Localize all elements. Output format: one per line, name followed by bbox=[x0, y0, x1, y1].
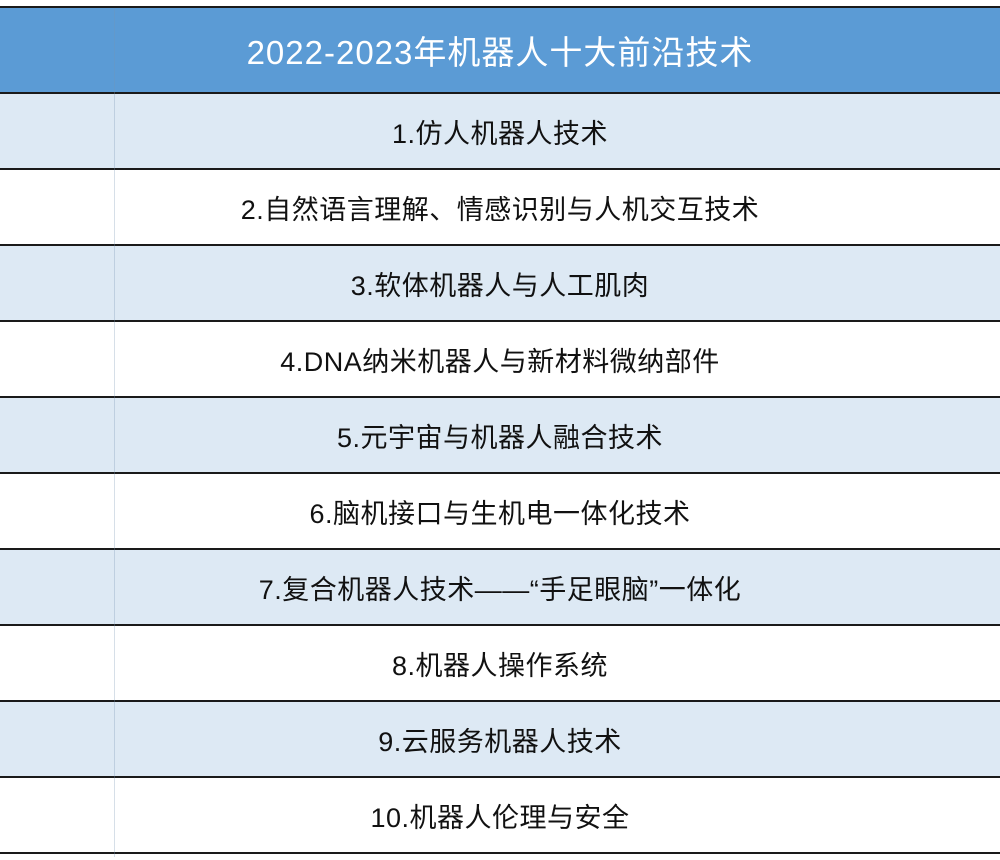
tech-item-cell-3[interactable]: 3.软体机器人与人工肌肉 bbox=[0, 245, 1000, 321]
tech-list-table: 2022-2023年机器人十大前沿技术 1.仿人机器人技术 2.自然语言理解、情… bbox=[0, 6, 1000, 854]
table-row[interactable]: 9.云服务机器人技术 bbox=[0, 701, 1000, 777]
tech-list-table-body: 2022-2023年机器人十大前沿技术 1.仿人机器人技术 2.自然语言理解、情… bbox=[0, 7, 1000, 853]
tech-item-label-3: 3.软体机器人与人工肌肉 bbox=[351, 264, 650, 303]
table-row[interactable]: 1.仿人机器人技术 bbox=[0, 93, 1000, 169]
tech-item-label-10: 10.机器人伦理与安全 bbox=[370, 796, 629, 835]
tech-item-label-9: 9.云服务机器人技术 bbox=[378, 720, 622, 759]
table-row[interactable]: 8.机器人操作系统 bbox=[0, 625, 1000, 701]
tech-item-label-7: 7.复合机器人技术——“手足眼脑”一体化 bbox=[259, 568, 742, 607]
tech-item-cell-1[interactable]: 1.仿人机器人技术 bbox=[0, 93, 1000, 169]
tech-item-cell-5[interactable]: 5.元宇宙与机器人融合技术 bbox=[0, 397, 1000, 473]
table-row[interactable]: 5.元宇宙与机器人融合技术 bbox=[0, 397, 1000, 473]
tech-item-label-1: 1.仿人机器人技术 bbox=[392, 112, 608, 151]
tech-list-table-container: 2022-2023年机器人十大前沿技术 1.仿人机器人技术 2.自然语言理解、情… bbox=[0, 0, 1000, 860]
page-title: 2022-2023年机器人十大前沿技术 bbox=[247, 26, 754, 74]
table-row[interactable]: 2.自然语言理解、情感识别与人机交互技术 bbox=[0, 169, 1000, 245]
tech-item-label-4: 4.DNA纳米机器人与新材料微纳部件 bbox=[280, 340, 720, 379]
table-row[interactable]: 4.DNA纳米机器人与新材料微纳部件 bbox=[0, 321, 1000, 397]
tech-item-cell-2[interactable]: 2.自然语言理解、情感识别与人机交互技术 bbox=[0, 169, 1000, 245]
table-header-row: 2022-2023年机器人十大前沿技术 bbox=[0, 7, 1000, 93]
tech-item-label-2: 2.自然语言理解、情感识别与人机交互技术 bbox=[241, 188, 760, 227]
tech-item-cell-6[interactable]: 6.脑机接口与生机电一体化技术 bbox=[0, 473, 1000, 549]
table-row[interactable]: 6.脑机接口与生机电一体化技术 bbox=[0, 473, 1000, 549]
table-row[interactable]: 7.复合机器人技术——“手足眼脑”一体化 bbox=[0, 549, 1000, 625]
tech-item-cell-10[interactable]: 10.机器人伦理与安全 bbox=[0, 777, 1000, 853]
tech-item-cell-9[interactable]: 9.云服务机器人技术 bbox=[0, 701, 1000, 777]
tech-item-cell-8[interactable]: 8.机器人操作系统 bbox=[0, 625, 1000, 701]
table-row[interactable]: 10.机器人伦理与安全 bbox=[0, 777, 1000, 853]
tech-item-cell-4[interactable]: 4.DNA纳米机器人与新材料微纳部件 bbox=[0, 321, 1000, 397]
tech-item-cell-7[interactable]: 7.复合机器人技术——“手足眼脑”一体化 bbox=[0, 549, 1000, 625]
table-row[interactable]: 3.软体机器人与人工肌肉 bbox=[0, 245, 1000, 321]
table-title-cell: 2022-2023年机器人十大前沿技术 bbox=[0, 7, 1000, 93]
tech-item-label-5: 5.元宇宙与机器人融合技术 bbox=[337, 416, 663, 455]
tech-item-label-6: 6.脑机接口与生机电一体化技术 bbox=[309, 492, 690, 531]
tech-item-label-8: 8.机器人操作系统 bbox=[392, 644, 608, 683]
